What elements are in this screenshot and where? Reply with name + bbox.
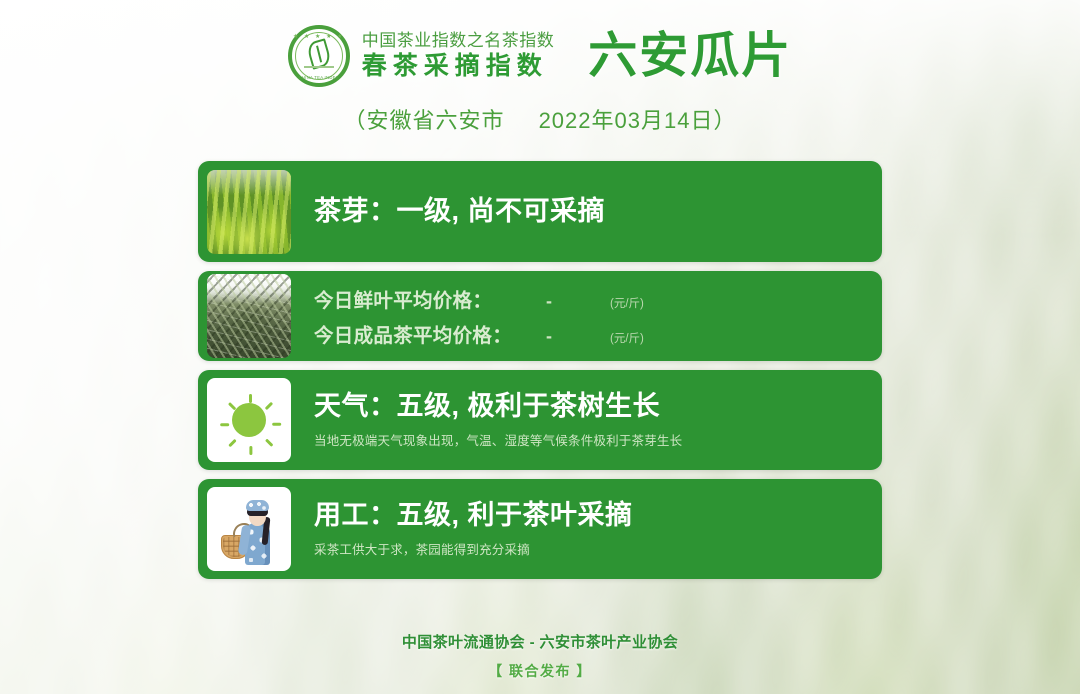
picker-headscarf [246, 500, 269, 511]
price-value-finished-tea: - [546, 326, 610, 347]
card-weather-subtitle: 当地无极端天气现象出现，气温、湿度等气候条件极利于茶芽生长 [314, 430, 873, 449]
price-row-fresh-leaf: 今日鲜叶平均价格： - (元/斤) [314, 284, 873, 313]
card-tea-bud[interactable]: 茶芽：一级, 尚不可采摘 [198, 161, 882, 262]
card-prices[interactable]: 今日鲜叶平均价格： - (元/斤) 今日成品茶平均价格： - (元/斤) [198, 271, 882, 361]
card-prices-body: 今日鲜叶平均价格： - (元/斤) 今日成品茶平均价格： - (元/斤) [291, 284, 873, 348]
poster-header: ★ ★ ★ ★ ★ CHINA TEA INDEX 中国茶业指数之名茶指数 春茶… [0, 0, 1080, 135]
card-labor-subtitle: 采茶工供大于求，茶园能得到充分采摘 [314, 539, 873, 558]
index-name-title: 春茶采摘指数 [362, 51, 555, 82]
subtitle-date: 2022年03月14日 [539, 108, 714, 133]
price-row-list: 今日鲜叶平均价格： - (元/斤) 今日成品茶平均价格： - (元/斤) [314, 284, 873, 348]
sun-ray [265, 439, 274, 448]
seal-divider [304, 66, 334, 68]
sun-ray [228, 402, 237, 411]
card-tea-bud-body: 茶芽：一级, 尚不可采摘 [291, 196, 873, 227]
price-value-fresh-leaf: - [546, 291, 610, 312]
sun-ray [228, 439, 237, 448]
price-label-fresh-leaf: 今日鲜叶平均价格： [314, 284, 546, 313]
sun-ray [220, 423, 229, 426]
brand-titles: 中国茶业指数之名茶指数 春茶采摘指数 [362, 30, 555, 83]
price-unit-fresh-leaf: (元/斤) [610, 295, 644, 311]
index-family-label: 中国茶业指数之名茶指数 [362, 30, 555, 51]
footer-organizations: 中国茶叶流通协会 - 六安市茶叶产业协会 [0, 631, 1080, 652]
association-seal-logo-icon: ★ ★ ★ ★ ★ CHINA TEA INDEX [288, 25, 350, 87]
footer-joint-release-note: 【 联合发布 】 [0, 661, 1080, 681]
location-date-subtitle: （安徽省六安市2022年03月14日） [0, 103, 1080, 135]
subtitle-region: 安徽省六安市 [367, 108, 505, 133]
card-labor[interactable]: 用工：五级, 利于茶叶采摘 采茶工供大于求，茶园能得到充分采摘 [198, 479, 882, 579]
sun-ray [265, 402, 274, 411]
sun-icon [207, 378, 291, 462]
sun-ray [249, 394, 252, 403]
card-weather-title: 天气：五级, 极利于茶树生长 [314, 391, 873, 422]
tea-picker-icon [207, 487, 291, 571]
card-weather[interactable]: 天气：五级, 极利于茶树生长 当地无极端天气现象出现，气温、湿度等气候条件极利于… [198, 370, 882, 470]
subtitle-open-paren: （ [344, 108, 367, 133]
sun-ray [272, 423, 281, 426]
price-label-finished-tea: 今日成品茶平均价格： [314, 319, 546, 348]
card-labor-title: 用工：五级, 利于茶叶采摘 [314, 500, 873, 531]
card-weather-body: 天气：五级, 极利于茶树生长 当地无极端天气现象出现，气温、湿度等气候条件极利于… [291, 391, 873, 448]
tea-bud-photo-icon [207, 170, 291, 254]
product-name-title: 六安瓜片 [588, 32, 792, 81]
sun-core [232, 403, 266, 437]
price-row-finished-tea: 今日成品茶平均价格： - (元/斤) [314, 319, 873, 348]
brand-row: ★ ★ ★ ★ ★ CHINA TEA INDEX 中国茶业指数之名茶指数 春茶… [0, 18, 1080, 94]
sun-ray [249, 446, 252, 455]
poster-page: ★ ★ ★ ★ ★ CHINA TEA INDEX 中国茶业指数之名茶指数 春茶… [0, 0, 1080, 694]
dried-tea-photo-icon [207, 274, 291, 358]
index-card-list: 茶芽：一级, 尚不可采摘 今日鲜叶平均价格： - (元/斤) 今日成品茶平均价格… [198, 161, 882, 579]
subtitle-close-paren: ） [713, 108, 736, 133]
price-unit-finished-tea: (元/斤) [610, 330, 644, 346]
card-labor-body: 用工：五级, 利于茶叶采摘 采茶工供大于求，茶园能得到充分采摘 [291, 500, 873, 557]
card-tea-bud-title: 茶芽：一级, 尚不可采摘 [314, 196, 873, 227]
seal-ring-text: CHINA TEA INDEX [292, 76, 346, 80]
poster-footer: 中国茶叶流通协会 - 六安市茶叶产业协会 【 联合发布 】 [0, 631, 1080, 681]
